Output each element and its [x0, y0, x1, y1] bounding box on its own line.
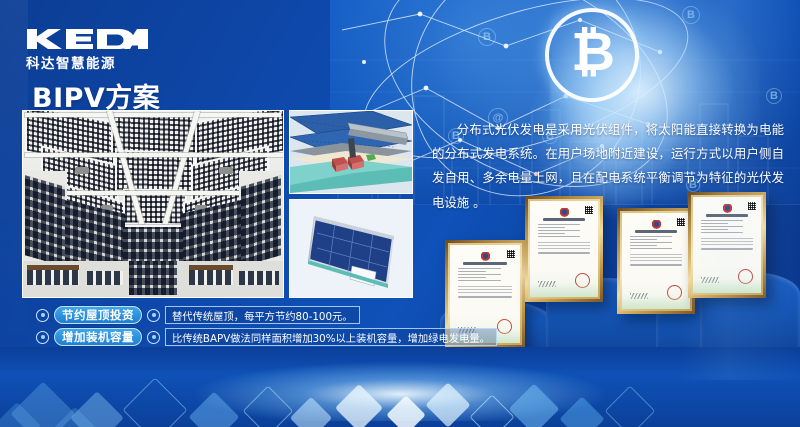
- certificate-line: [538, 224, 580, 225]
- footer-diamond: [605, 386, 656, 427]
- certificate-line: [458, 296, 512, 297]
- certificate-line: [538, 230, 580, 231]
- certificate-line: [538, 233, 565, 234]
- national-emblem-icon: [481, 252, 490, 261]
- right-sheen: [680, 0, 800, 380]
- certificate-title-bar: [463, 262, 507, 265]
- benefit-description: 替代传统屋顶，每平方节约80-100元。: [165, 306, 360, 324]
- benefit-description: 比传统BAPV做法同样面积增加30%以上装机容量，增加绿电发电量。: [165, 328, 497, 346]
- certificate-line: [538, 227, 565, 228]
- bipv-solution-slide: B @ B B B B B B ₿: [0, 0, 800, 427]
- bullet-dot-icon: [36, 309, 49, 322]
- bullet-dot-icon: [36, 331, 49, 344]
- certificate-title-bar: [543, 218, 585, 221]
- lower-window-row: [239, 271, 279, 285]
- qr-code-icon: [507, 250, 515, 258]
- ceiling-fixture: [219, 167, 233, 174]
- certificate-line: [458, 268, 501, 269]
- awning: [27, 265, 79, 270]
- benefit-tag: 节约屋顶投资: [54, 306, 142, 324]
- window-row: [25, 175, 65, 266]
- bitcoin-icon: ₿: [545, 8, 639, 102]
- certificate-text-block: [458, 284, 512, 293]
- certificate-line: [538, 236, 580, 237]
- certificate-line: [630, 242, 672, 243]
- qr-code-icon: [585, 206, 593, 214]
- certificate-line: [630, 248, 672, 249]
- certificate-line: [630, 239, 657, 240]
- certificate-title-bar: [635, 230, 677, 233]
- certificate-text-block: [538, 240, 590, 249]
- certificate-line: [630, 245, 657, 246]
- mini-bitcoin-badge-icon: B: [478, 28, 496, 46]
- certificate-line: [458, 271, 486, 272]
- certificate-line: [458, 277, 486, 278]
- certificate-line: [458, 280, 501, 281]
- certificate-frame: [525, 196, 603, 302]
- certificate-line: [538, 252, 590, 253]
- roof-beam: [25, 113, 281, 117]
- roof-beam: [37, 191, 269, 195]
- lower-window-row: [189, 269, 233, 285]
- certificate-paper: [530, 201, 598, 297]
- atrium-illustration: [23, 111, 283, 297]
- mounting-detail-illustration: [290, 111, 412, 193]
- certificate-line: [630, 236, 672, 237]
- benefit-row: 增加装机容量 比传统BAPV做法同样面积增加30%以上装机容量，增加绿电发电量。: [36, 328, 548, 346]
- keda-wordmark-icon: [26, 28, 148, 50]
- certificate-inner-frame: [528, 199, 600, 299]
- bullet-dot-icon: [147, 331, 160, 344]
- certificate-line: [630, 264, 682, 265]
- footer-diamond: [122, 377, 187, 427]
- hero-photo-atrium: [22, 110, 284, 298]
- benefit-tag: 增加装机容量: [54, 328, 142, 346]
- national-emblem-icon: [652, 220, 661, 229]
- bitcoin-glyph: ₿: [571, 25, 613, 79]
- detail-photo-mounting: [289, 110, 413, 194]
- mounting-detail-svg: [290, 111, 412, 193]
- benefit-row: 节约屋顶投资 替代传统屋顶，每平方节约80-100元。: [36, 306, 548, 324]
- brand-subtitle: 科达智慧能源: [26, 52, 148, 72]
- window-row: [241, 175, 281, 266]
- lower-window-row: [27, 269, 79, 285]
- national-emblem-icon: [560, 208, 569, 217]
- panel-photo-module: [289, 199, 413, 298]
- awning: [189, 265, 233, 270]
- certificate-text-block: [630, 252, 682, 261]
- brand-logo: 科达智慧能源: [26, 28, 148, 72]
- certificate-line: [458, 274, 501, 275]
- roof-beam: [25, 153, 283, 157]
- keda-logo-svg: [26, 27, 148, 51]
- lower-window-row: [129, 261, 177, 295]
- ceiling-fixture: [75, 167, 89, 174]
- lower-window-row: [87, 271, 123, 285]
- certificate-footer-band: [530, 283, 598, 297]
- bullet-dot-icon: [147, 309, 160, 322]
- pv-module-illustration: [290, 200, 412, 297]
- pv-module-svg: [290, 200, 412, 297]
